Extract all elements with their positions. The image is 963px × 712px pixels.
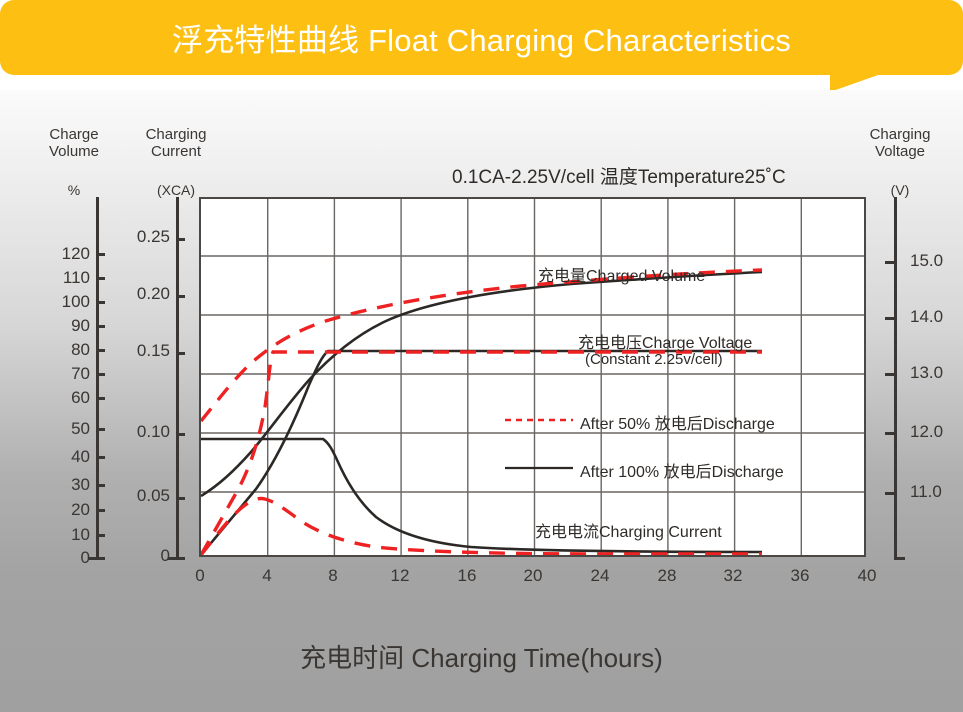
left-axis2-label: 0	[118, 546, 170, 566]
left-axis1-label: 110	[40, 268, 90, 288]
left-axis1-tick	[96, 349, 105, 352]
right-axis-label: 15.0	[910, 251, 943, 271]
left-axis1-tick	[96, 557, 105, 560]
x-axis-label: 4	[256, 566, 278, 586]
annotation-charge-voltage-sub: (Constant 2.25v/cell)	[585, 351, 723, 368]
legend-item-50-label: After 50% 放电后Discharge	[580, 410, 775, 434]
left-axis2-label: 0.10	[118, 422, 170, 442]
left-axis1-tick	[96, 325, 105, 328]
header-banner: 浮充特性曲线 Float Charging Characteristics	[0, 0, 963, 90]
left-axis2-tick	[176, 497, 185, 500]
x-axis-label: 36	[789, 566, 811, 586]
right-axis-label: 12.0	[910, 422, 943, 442]
x-axis-label: 0	[189, 566, 211, 586]
right-axis-label: 11.0	[910, 482, 942, 502]
left-axis1-label: 90	[40, 316, 90, 336]
left-axis1-label: 30	[40, 475, 90, 495]
right-axis-title: Charging Voltage	[850, 126, 950, 160]
plot-svg	[201, 199, 864, 555]
left-axis1-title: Charge Volume	[28, 126, 120, 160]
left-axis1-tick	[96, 301, 105, 304]
left-axis1-tick	[96, 534, 105, 537]
banner-title: 浮充特性曲线 Float Charging Characteristics	[172, 15, 791, 60]
left-axis1-tick	[96, 373, 105, 376]
left-axis1-unit: %	[28, 182, 120, 198]
x-axis-label: 16	[456, 566, 478, 586]
left-axis2-label: 0.05	[118, 486, 170, 506]
x-axis-label: 24	[589, 566, 611, 586]
banner-body: 浮充特性曲线 Float Charging Characteristics	[0, 0, 963, 75]
left-axis1-tick	[96, 253, 105, 256]
plot-area	[199, 197, 866, 557]
left-axis2-tick	[176, 295, 185, 298]
x-axis-label: 8	[322, 566, 344, 586]
legend-item-100-label: After 100% 放电后Discharge	[580, 458, 784, 482]
x-axis-label: 32	[722, 566, 744, 586]
x-axis-label: 28	[656, 566, 678, 586]
grid-vertical	[268, 199, 802, 555]
left-axis2-line	[176, 197, 179, 560]
left-axis2-title: Charging Current	[130, 126, 222, 160]
x-axis-label: 12	[389, 566, 411, 586]
left-axis1-label: 20	[40, 500, 90, 520]
left-axis2-unit: (XCA)	[130, 182, 222, 198]
left-axis1-tick	[96, 509, 105, 512]
grid-horizontal	[201, 256, 864, 492]
left-axis1-label: 70	[40, 364, 90, 384]
x-axis-label: 20	[522, 566, 544, 586]
left-axis1-label: 100	[40, 292, 90, 312]
x-axis-label: 40	[856, 566, 878, 586]
left-axis1-tick	[96, 428, 105, 431]
left-axis1-tick	[96, 456, 105, 459]
left-axis2-label: 0.25	[118, 227, 170, 247]
left-axis1-label: 80	[40, 340, 90, 360]
left-axis2-label: 0.15	[118, 341, 170, 361]
left-axis1-tick	[96, 484, 105, 487]
right-axis-tick	[885, 261, 895, 264]
left-axis1-tick	[96, 397, 105, 400]
right-axis-tick	[885, 492, 895, 495]
left-axis2-tick	[176, 557, 185, 560]
left-axis1-label: 0	[40, 548, 90, 568]
left-axis1-label: 120	[40, 244, 90, 264]
left-axis1-tick	[96, 277, 105, 280]
annotation-charging-current: 充电电流Charging Current	[535, 518, 722, 542]
right-axis-label: 14.0	[910, 307, 943, 327]
right-axis-foot	[894, 557, 905, 560]
right-axis-tick	[885, 432, 895, 435]
left-axis2-tick	[176, 238, 185, 241]
right-axis-line	[894, 197, 897, 560]
chart-page: 浮充特性曲线 Float Charging Characteristics Ch…	[0, 0, 963, 712]
right-axis-label: 13.0	[910, 363, 943, 383]
x-axis-title: 充电时间 Charging Time(hours)	[0, 638, 963, 675]
left-axis2-label: 0.20	[118, 284, 170, 304]
left-axis1-label: 40	[40, 447, 90, 467]
left-axis1-line	[96, 197, 99, 560]
banner-tail-icon	[830, 70, 892, 92]
right-axis-unit: (V)	[850, 182, 950, 198]
annotation-charged-volume: 充电量Charged Volume	[538, 262, 705, 286]
left-axis2-tick	[176, 352, 185, 355]
left-axis1-label: 50	[40, 419, 90, 439]
plot-condition-note: 0.1CA-2.25V/cell 温度Temperature25˚C	[452, 162, 786, 189]
left-axis1-label: 10	[40, 525, 90, 545]
left-axis2-tick	[176, 433, 185, 436]
annotation-charge-voltage: 充电电压Charge Voltage	[578, 329, 752, 353]
left-axis1-label: 60	[40, 388, 90, 408]
right-axis-tick	[885, 317, 895, 320]
right-axis-tick	[885, 373, 895, 376]
